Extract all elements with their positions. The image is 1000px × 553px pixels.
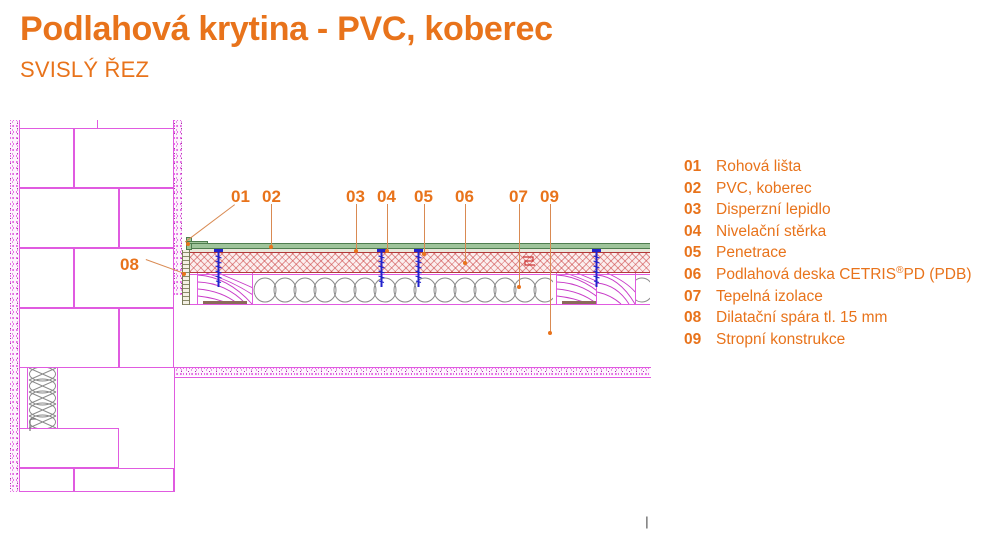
callout-05: 05 — [414, 188, 433, 205]
leader-dot-01 — [186, 242, 190, 246]
brick-joint — [97, 120, 98, 129]
brick — [19, 128, 74, 188]
ceiling-slab-left-return — [174, 368, 175, 492]
leader-dot-05 — [422, 252, 426, 256]
brick — [19, 468, 74, 492]
ceiling-slab-plaster — [174, 368, 650, 376]
leader-09 — [550, 204, 551, 332]
timber-joist — [596, 272, 636, 305]
legend-number: 03 — [684, 201, 716, 219]
legend-number: 07 — [684, 288, 716, 306]
legend-item-07: 07 Tepelná izolace — [684, 288, 972, 310]
brick — [119, 308, 174, 368]
leader-06 — [465, 204, 466, 262]
callout-08: 08 — [120, 256, 139, 273]
brick — [19, 188, 119, 248]
leader-dot-04 — [385, 249, 389, 253]
leader-04 — [387, 204, 388, 250]
brick — [74, 468, 174, 492]
screw-fastener — [592, 249, 601, 289]
legend-item-01: 01 Rohová lišta — [684, 158, 972, 180]
legend-number: 02 — [684, 180, 716, 198]
legend-item-08: 08 Dilatační spára tl. 15 mm — [684, 309, 972, 331]
callout-03: 03 — [346, 188, 365, 205]
legend-label-main: Podlahová deska CETRIS — [716, 266, 896, 283]
brick — [19, 248, 74, 308]
leader-02 — [271, 204, 272, 246]
screw-fastener — [377, 249, 386, 289]
brick — [74, 128, 174, 188]
dilatation-joint — [182, 250, 190, 305]
legend-item-02: 02 PVC, koberec — [684, 180, 972, 202]
leader-dot-03 — [354, 249, 358, 253]
legend-label: Penetrace — [716, 244, 787, 262]
legend-label: Disperzní lepidlo — [716, 201, 831, 219]
legend-label: Nivelační stěrka — [716, 223, 826, 241]
legend-number: 09 — [684, 331, 716, 349]
callout-01: 01 — [231, 188, 250, 205]
leader-07 — [519, 204, 520, 286]
legend-list: 01 Rohová lišta 02 PVC, koberec 03 Dispe… — [684, 158, 972, 352]
callout-07: 07 — [509, 188, 528, 205]
brick — [119, 188, 174, 248]
leader-dot-08 — [182, 272, 186, 276]
wall-cavity-edge-right — [57, 368, 58, 428]
brick — [19, 428, 119, 468]
legend-label: Tepelná izolace — [716, 288, 823, 306]
floor-bottom-rail — [182, 304, 650, 305]
legend-item-09: 09 Stropní konstrukce — [684, 331, 972, 353]
legend-item-06: 06 Podlahová deska CETRIS®PD (PDB) — [684, 266, 972, 288]
drawing-canvas: Podlahová krytina - PVC, koberec SVISLÝ … — [0, 0, 1000, 553]
brick — [19, 308, 119, 368]
legend-label-suffix: PD (PDB) — [903, 266, 971, 283]
legend-number: 04 — [684, 223, 716, 241]
legend-label: Stropní konstrukce — [716, 331, 845, 349]
page-title: Podlahová krytina - PVC, koberec — [20, 10, 553, 49]
legend-label: Podlahová deska CETRIS®PD (PDB) — [716, 266, 972, 284]
callout-04: 04 — [377, 188, 396, 205]
leader-05 — [424, 204, 425, 253]
legend-number: 05 — [684, 244, 716, 262]
legend-label: PVC, koberec — [716, 180, 812, 198]
legend-item-04: 04 Nivelační stěrka — [684, 223, 972, 245]
floor-insulation-bay-1 — [253, 277, 553, 303]
page-subtitle: SVISLÝ ŘEZ — [20, 57, 149, 83]
leader-dot-02 — [269, 245, 273, 249]
screw-fastener — [214, 249, 223, 289]
leader-dot-09 — [548, 331, 552, 335]
legend-number: 08 — [684, 309, 716, 327]
legend-number: 06 — [684, 266, 716, 284]
cavity-hook-detail — [27, 418, 47, 432]
text-cursor: | — [643, 515, 651, 530]
wall-outer-plaster — [10, 120, 19, 492]
leader-03 — [356, 204, 357, 250]
legend-label: Dilatační spára tl. 15 mm — [716, 309, 887, 327]
legend-item-03: 03 Disperzní lepidlo — [684, 201, 972, 223]
leader-01 — [185, 204, 235, 242]
legend-number: 01 — [684, 158, 716, 176]
board-detail-mark — [522, 256, 536, 268]
leader-dot-07 — [517, 285, 521, 289]
callout-06: 06 — [455, 188, 474, 205]
callout-09: 09 — [540, 188, 559, 205]
ceiling-slab-soffit — [174, 377, 651, 378]
ceiling-slab-top — [174, 367, 651, 368]
callout-02: 02 — [262, 188, 281, 205]
legend-label: Rohová lišta — [716, 158, 801, 176]
leader-dot-06 — [463, 261, 467, 265]
legend-item-05: 05 Penetrace — [684, 244, 972, 266]
